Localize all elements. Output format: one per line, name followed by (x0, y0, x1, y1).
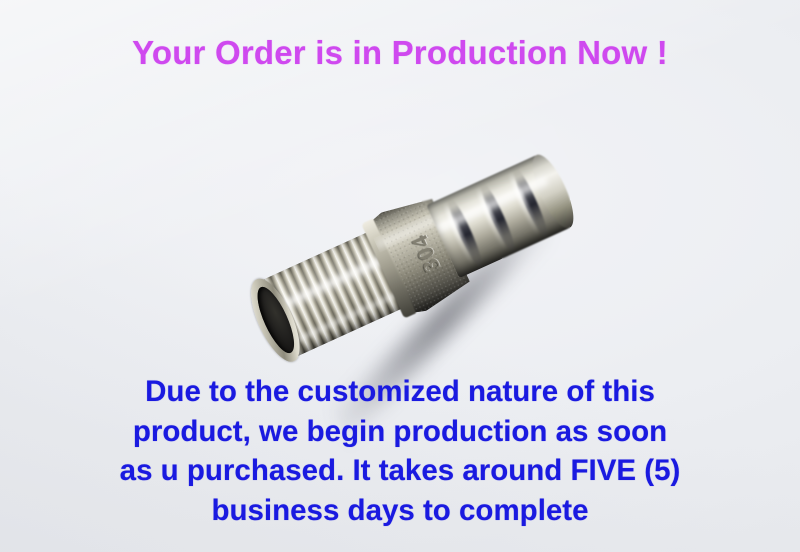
production-notice-text: Due to the customized nature of this pro… (32, 372, 768, 530)
notice-line: as u purchased. It takes around FIVE (5) (32, 451, 768, 491)
notice-line: business days to complete (32, 491, 768, 531)
product-photo: 304 (248, 152, 584, 358)
headline-text: Your Order is in Production Now ! (0, 34, 800, 72)
screenshot-canvas: Your Order is in Production Now ! 304 (0, 0, 800, 552)
notice-line: Due to the customized nature of this (32, 372, 768, 412)
notice-line: product, we begin production as soon (32, 412, 768, 452)
hose-barb-fitting: 304 (220, 92, 611, 419)
